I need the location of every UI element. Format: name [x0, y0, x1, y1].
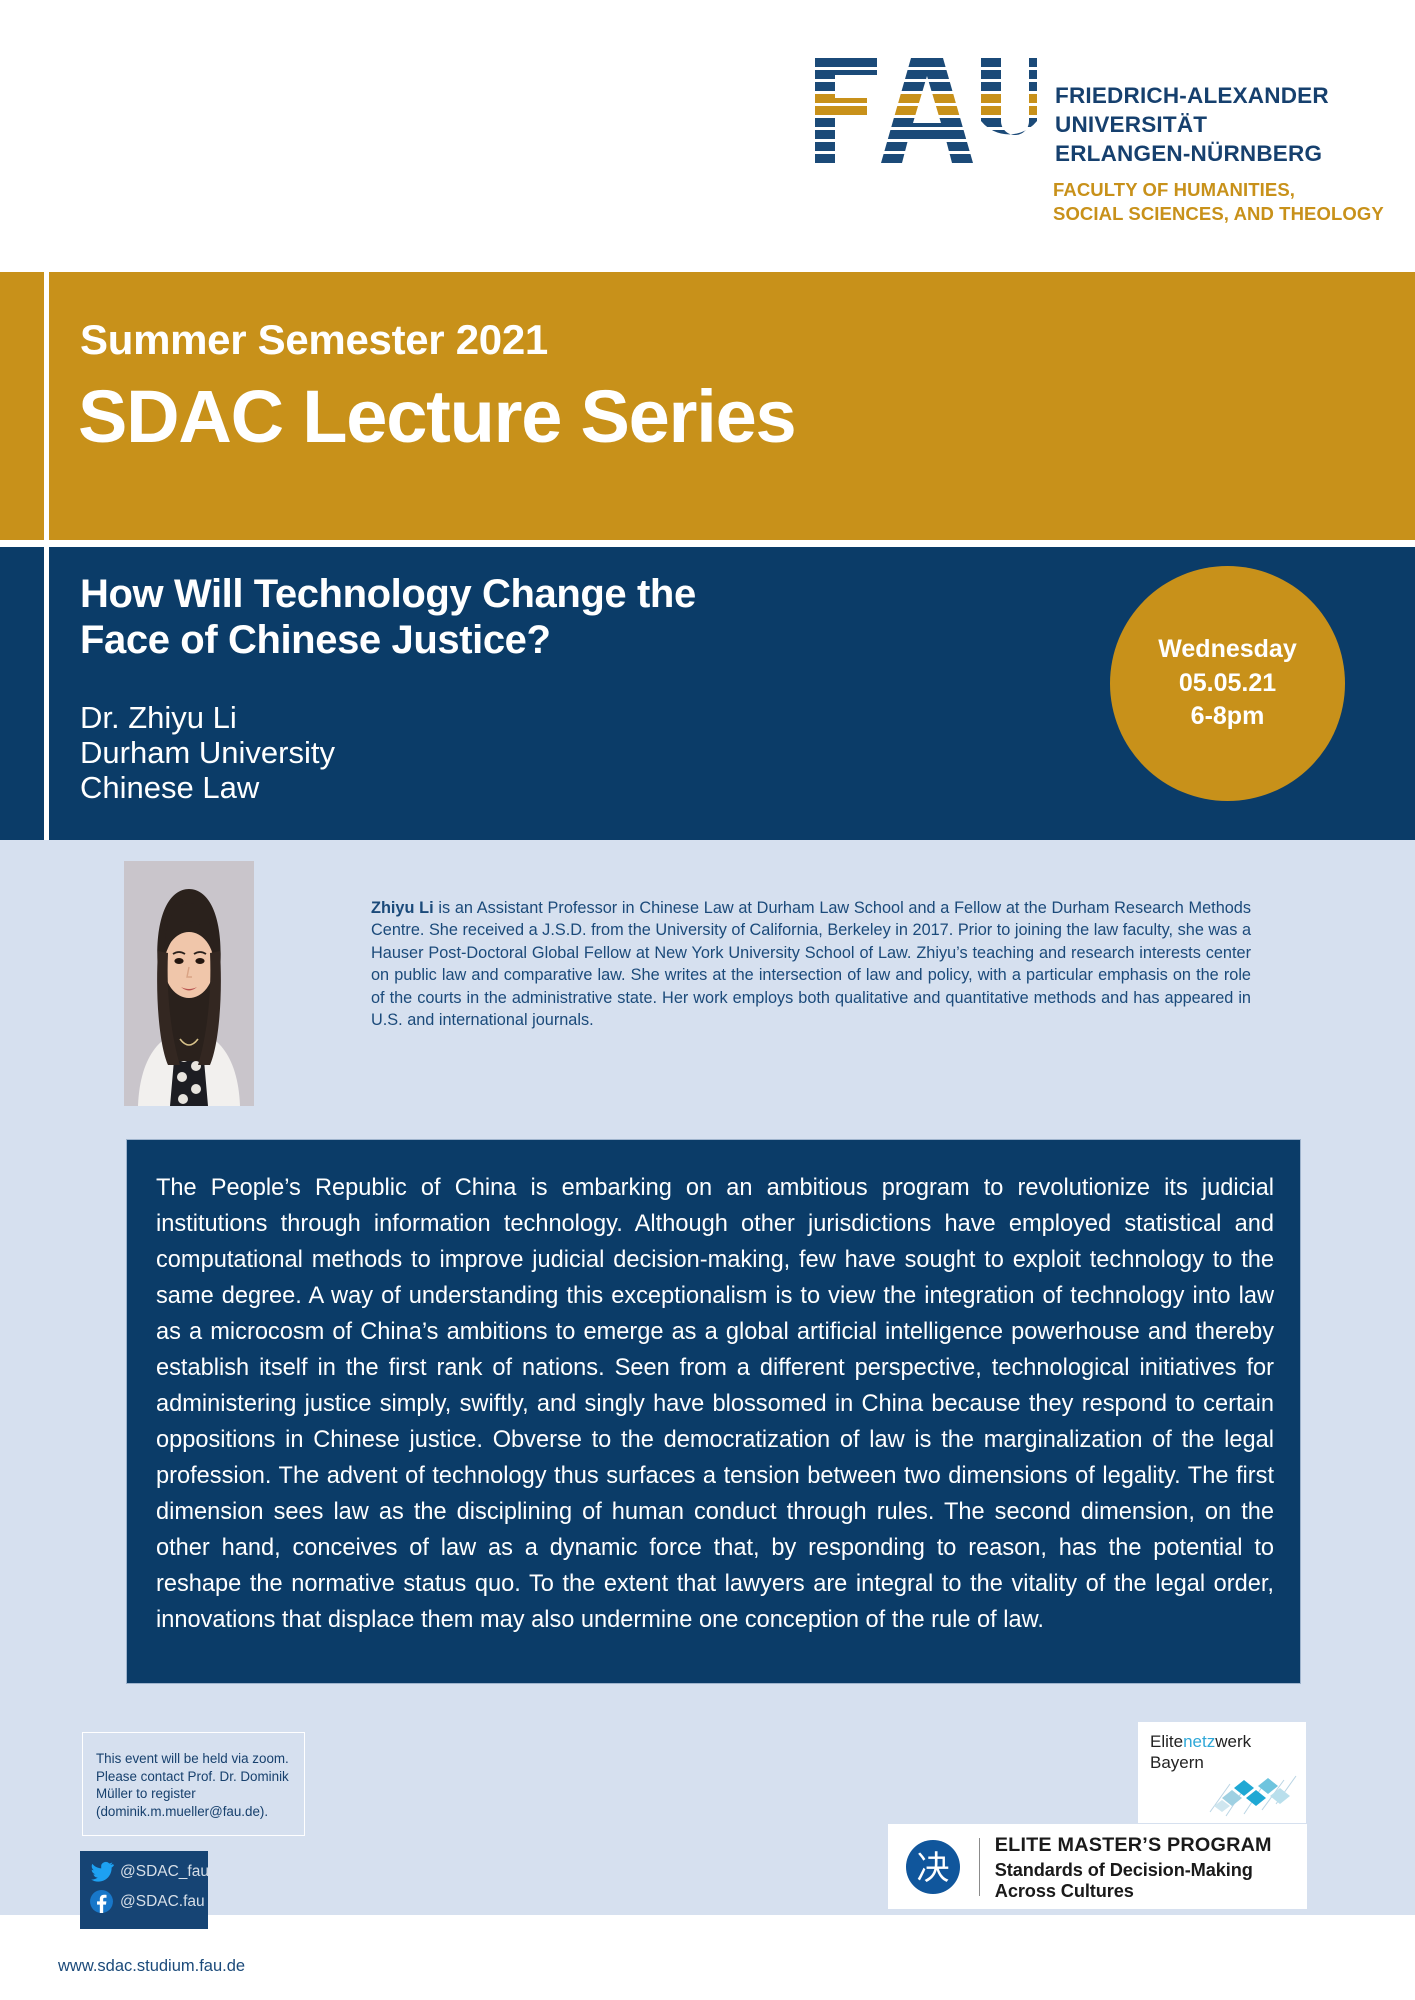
lecture-title: How Will Technology Change the Face of C…	[80, 572, 920, 663]
portrait-image	[124, 861, 254, 1106]
bio-lead-name: Zhiyu Li	[371, 899, 434, 917]
emp-title: ELITE MASTER’S PROGRAM	[995, 1834, 1307, 1857]
banner-divider	[0, 540, 1415, 547]
speaker-portrait	[124, 861, 254, 1106]
elite-masters-program-logo: 决 ELITE MASTER’S PROGRAM Standards of De…	[888, 1824, 1307, 1909]
series-title: SDAC Lecture Series	[78, 380, 796, 454]
facebook-link[interactable]: @SDAC.fau	[89, 1889, 208, 1914]
sdac-seal-icon: 决	[904, 1838, 962, 1896]
twitter-handle: @SDAC_fau	[120, 1863, 209, 1881]
university-name: FRIEDRICH-ALEXANDER UNIVERSITÄT ERLANGEN…	[1055, 58, 1329, 168]
social-links-box: @SDAC_fau @SDAC.fau	[80, 1851, 208, 1929]
speaker-block: Dr. Zhiyu Li Durham University Chinese L…	[80, 700, 335, 805]
enb-word-part2: netz	[1183, 1732, 1215, 1751]
date-time: 6-8pm	[1191, 700, 1265, 734]
speaker-field: Chinese Law	[80, 770, 335, 805]
date-value: 05.05.21	[1179, 667, 1276, 701]
semester-label: Summer Semester 2021	[80, 316, 548, 364]
lecture-title-line1: How Will Technology Change the	[80, 572, 920, 618]
facebook-handle: @SDAC.fau	[120, 1893, 205, 1911]
date-weekday: Wednesday	[1158, 633, 1296, 667]
fau-logo-block: FRIEDRICH-ALEXANDER UNIVERSITÄT ERLANGEN…	[815, 58, 1329, 168]
faculty-name-line1: FACULTY OF HUMANITIES,	[1053, 178, 1384, 202]
university-name-line2: UNIVERSITÄT	[1055, 111, 1329, 140]
faculty-name-line2: SOCIAL SCIENCES, AND THEOLOGY	[1053, 202, 1384, 226]
university-name-line3: ERLANGEN-NÜRNBERG	[1055, 140, 1329, 169]
twitter-link[interactable]: @SDAC_fau	[89, 1859, 208, 1884]
poster-root: FRIEDRICH-ALEXANDER UNIVERSITÄT ERLANGEN…	[0, 0, 1415, 2000]
facebook-icon	[89, 1889, 114, 1914]
speaker-institution: Durham University	[80, 735, 335, 770]
logo-divider	[979, 1838, 980, 1896]
emp-subtitle: Standards of Decision-Making Across Cult…	[995, 1860, 1307, 1902]
enb-diamond-icon	[1204, 1764, 1300, 1820]
zoom-registration-note: This event will be held via zoom. Please…	[82, 1732, 305, 1836]
speaker-name: Dr. Zhiyu Li	[80, 700, 335, 735]
banner-vertical-rule	[44, 272, 49, 840]
speaker-bio: Zhiyu Li is an Assistant Professor in Ch…	[371, 897, 1251, 1032]
emp-text-block: ELITE MASTER’S PROGRAM Standards of Deci…	[995, 1832, 1307, 1902]
university-name-line1: FRIEDRICH-ALEXANDER	[1055, 82, 1329, 111]
twitter-icon	[89, 1859, 114, 1884]
fau-logo-icon	[815, 58, 1037, 163]
faculty-name: FACULTY OF HUMANITIES, SOCIAL SCIENCES, …	[1053, 178, 1384, 227]
website-url[interactable]: www.sdac.studium.fau.de	[58, 1957, 245, 1976]
enb-word-part1: Elite	[1150, 1732, 1183, 1751]
bio-text: is an Assistant Professor in Chinese Law…	[371, 899, 1251, 1029]
date-badge: Wednesday 05.05.21 6-8pm	[1110, 566, 1345, 801]
lecture-title-line2: Face of Chinese Justice?	[80, 618, 920, 664]
abstract-text: The People’s Republic of China is embark…	[156, 1171, 1274, 1639]
abstract-box: The People’s Republic of China is embark…	[126, 1139, 1301, 1684]
enb-word-part3: werk	[1215, 1732, 1251, 1751]
seal-character: 决	[917, 1848, 950, 1887]
elitenetzwerk-bayern-logo: Elitenetzwerk Bayern	[1138, 1722, 1306, 1823]
